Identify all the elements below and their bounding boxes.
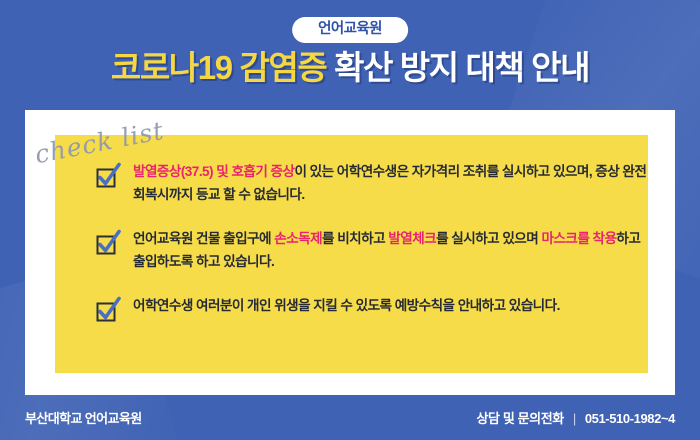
body-text: 언어교육원 건물 출입구에 [133,231,274,246]
checkbox-checked-icon [95,161,121,191]
highlighted-text: 발열증상(37.5) 및 호흡기 증상 [133,164,294,179]
list-item-text: 어학연수생 여러분이 개인 위생을 지킬 수 있도록 예방수칙을 안내하고 있습… [133,294,560,317]
footer-separator: | [573,411,576,426]
highlighted-text: 마스크를 착용 [541,231,616,246]
list-item: 어학연수생 여러분이 개인 위생을 지킬 수 있도록 예방수칙을 안내하고 있습… [95,294,655,325]
body-text: 를 실시하고 있으며 [436,231,541,246]
organization-badge: 언어교육원 [292,17,408,43]
guideline-list: 발열증상(37.5) 및 호흡기 증상이 있는 어학연수생은 자가격리 조취를 … [95,160,655,325]
list-item-text: 발열증상(37.5) 및 호흡기 증상이 있는 어학연수생은 자가격리 조취를 … [133,160,655,207]
list-item-text: 언어교육원 건물 출입구에 손소독제를 비치하고 발열체크를 실시하고 있으며 … [133,227,655,274]
list-item: 언어교육원 건물 출입구에 손소독제를 비치하고 발열체크를 실시하고 있으며 … [95,227,655,274]
checkbox-checked-icon [95,295,121,325]
banner-footer: 부산대학교 언어교육원 상담 및 문의전화|051-510-1982~4 [0,395,700,440]
covid-notice-banner: 언어교육원 코로나19 감염증 확산 방지 대책 안내 check list 발… [0,0,700,440]
highlighted-text: 손소독제 [274,231,322,246]
footer-phone-number: 051-510-1982~4 [585,411,675,426]
highlighted-text: 발열체크 [388,231,436,246]
page-title-rest: 확산 방지 대책 안내 [334,49,589,86]
footer-contact-label: 상담 및 문의전화 [476,411,563,426]
list-item: 발열증상(37.5) 및 호흡기 증상이 있는 어학연수생은 자가격리 조취를 … [95,160,655,207]
checkbox-checked-icon [95,228,121,258]
body-text: 를 비치하고 [322,231,388,246]
body-text: 어학연수생 여러분이 개인 위생을 지킬 수 있도록 예방수칙을 안내하고 있습… [133,298,560,313]
page-title: 코로나19 감염증 확산 방지 대책 안내 [0,50,700,87]
footer-contact: 상담 및 문의전화|051-510-1982~4 [476,408,675,427]
footer-organization: 부산대학교 언어교육원 [25,408,142,427]
banner-header: 언어교육원 코로나19 감염증 확산 방지 대책 안내 [0,0,700,110]
page-title-highlight: 코로나19 감염증 [111,49,326,86]
